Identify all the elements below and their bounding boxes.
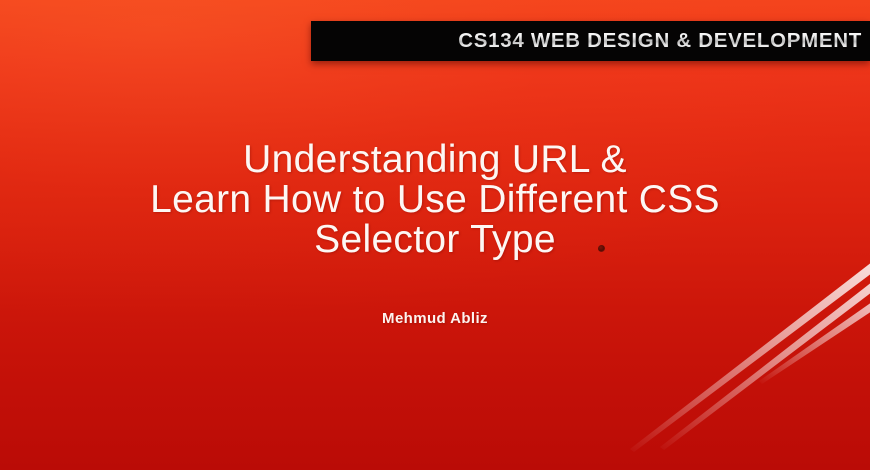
course-header-bar: CS134 WEB DESIGN & DEVELOPMENT	[311, 21, 870, 61]
course-title-text: CS134 WEB DESIGN & DEVELOPMENT	[458, 29, 870, 53]
title-line-3: Selector Type	[0, 220, 870, 260]
streak-2	[660, 282, 870, 450]
streak-1	[630, 262, 870, 452]
image-speck-artifact	[598, 245, 605, 252]
slide-title: Understanding URL & Learn How to Use Dif…	[0, 140, 870, 260]
author-name: Mehmud Abliz	[0, 310, 870, 327]
title-line-1: Understanding URL &	[0, 140, 870, 180]
title-slide: CS134 WEB DESIGN & DEVELOPMENT Understan…	[0, 0, 870, 470]
title-line-2: Learn How to Use Different CSS	[0, 180, 870, 220]
